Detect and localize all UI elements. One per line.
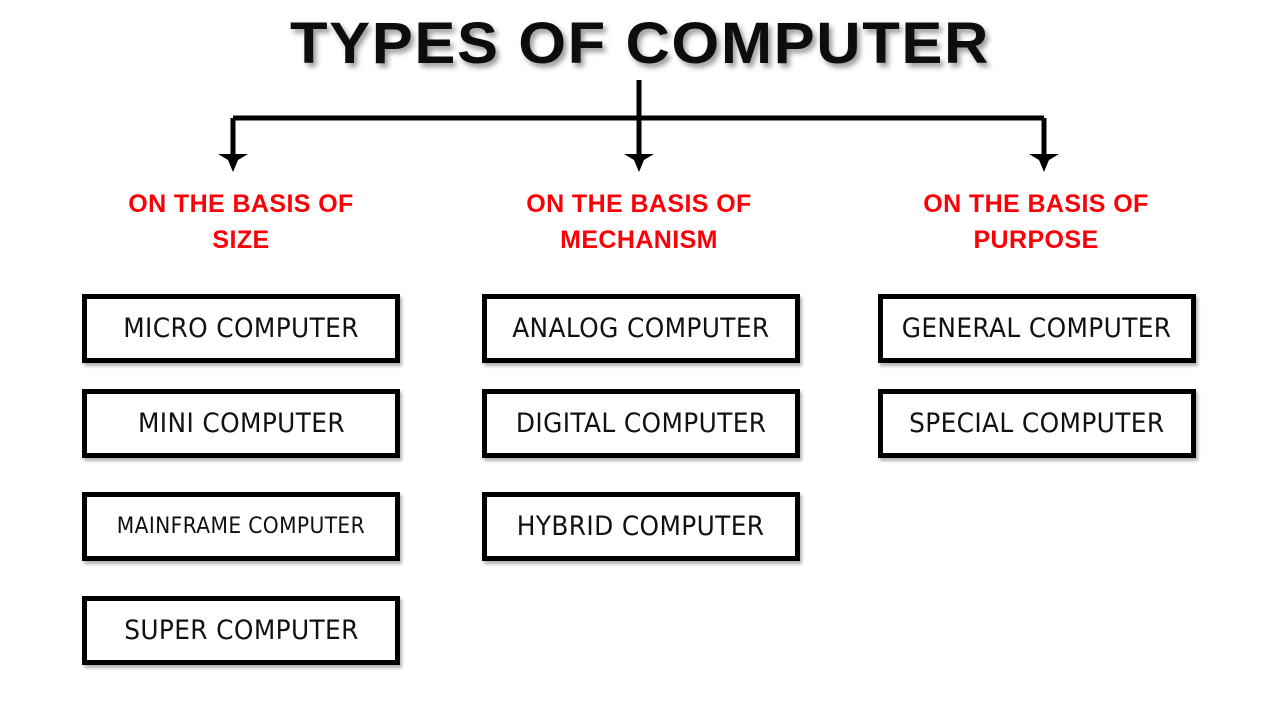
type-box[interactable]: GENERAL COMPUTER: [878, 294, 1196, 363]
type-box-label: GENERAL COMPUTER: [902, 313, 1172, 344]
type-box[interactable]: MICRO COMPUTER: [82, 294, 400, 363]
type-box[interactable]: SPECIAL COMPUTER: [878, 389, 1196, 458]
type-box-label: SPECIAL COMPUTER: [909, 408, 1164, 439]
column-heading-line2: SIZE: [212, 226, 269, 254]
type-box-label: HYBRID COMPUTER: [517, 511, 765, 542]
connector-arrowheads: [218, 154, 1059, 172]
type-box[interactable]: ANALOG COMPUTER: [482, 294, 800, 363]
type-box[interactable]: HYBRID COMPUTER: [482, 492, 800, 561]
arrowhead-center-icon: [624, 154, 654, 172]
type-box-label: ANALOG COMPUTER: [512, 313, 769, 344]
type-box[interactable]: SUPER COMPUTER: [82, 596, 400, 665]
type-box-label: SUPER COMPUTER: [124, 615, 359, 646]
type-box-label: MAINFRAME COMPUTER: [117, 514, 365, 539]
type-box[interactable]: MINI COMPUTER: [82, 389, 400, 458]
column-heading-purpose: ON THE BASIS OF PURPOSE: [856, 186, 1216, 259]
column-heading-size: ON THE BASIS OF SIZE: [61, 186, 421, 259]
arrowhead-left-icon: [218, 154, 248, 172]
page-title: TYPES OF COMPUTER: [0, 14, 1280, 75]
connector-tree: [0, 80, 1280, 180]
column-heading-line2: MECHANISM: [560, 226, 718, 254]
type-box[interactable]: DIGITAL COMPUTER: [482, 389, 800, 458]
type-box-label: MINI COMPUTER: [138, 408, 345, 439]
column-heading-line1: ON THE BASIS OF: [128, 190, 353, 218]
type-box[interactable]: MAINFRAME COMPUTER: [82, 492, 400, 561]
type-box-label: DIGITAL COMPUTER: [516, 408, 767, 439]
column-heading-mechanism: ON THE BASIS OF MECHANISM: [459, 186, 819, 259]
diagram-canvas: TYPES OF COMPUTER ON THE BASIS OF SIZE O…: [0, 0, 1280, 720]
column-heading-line2: PURPOSE: [973, 226, 1098, 254]
type-box-label: MICRO COMPUTER: [123, 313, 359, 344]
connector-lines: [233, 80, 1044, 156]
column-heading-line1: ON THE BASIS OF: [923, 190, 1148, 218]
column-heading-line1: ON THE BASIS OF: [526, 190, 751, 218]
arrowhead-right-icon: [1029, 154, 1059, 172]
